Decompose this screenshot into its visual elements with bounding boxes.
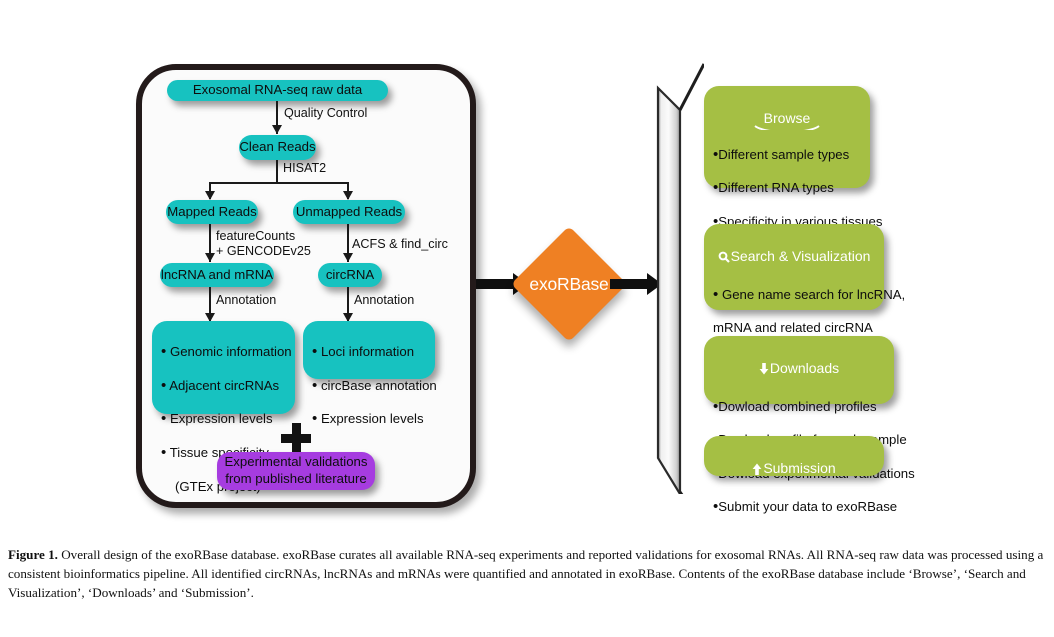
hub-label: exoRBase xyxy=(511,274,627,295)
panel-browse[interactable]: Browse •Different sample types •Differen… xyxy=(704,86,870,188)
node-mapped-reads: Mapped Reads xyxy=(166,200,258,224)
list-item-continuation: mRNA and related circRNA xyxy=(713,320,875,337)
edge-hisat2-left-arrowhead xyxy=(205,191,215,200)
edge-label-annotation-right: Annotation xyxy=(354,293,414,308)
bullet-icon: • xyxy=(161,410,166,427)
list-item-label: Different RNA types xyxy=(718,180,834,195)
panel-search-header: Search & Visualization xyxy=(713,248,875,268)
caption-text: Overall design of the exoRBase database.… xyxy=(8,547,1043,600)
plus-symbol xyxy=(281,423,311,453)
caption-label: Figure 1. xyxy=(8,547,58,562)
list-item: • Adjacent circRNAs xyxy=(161,378,286,395)
bullet-icon: • xyxy=(161,343,166,360)
edge-hisat2-right-arrowhead xyxy=(343,191,353,200)
magnifier-icon xyxy=(718,250,730,268)
list-item-label: Expression levels xyxy=(321,411,424,426)
arrow-up-icon xyxy=(752,462,762,480)
list-item-label: mRNA and related circRNA xyxy=(713,320,873,335)
list-item: • circBase annotation xyxy=(312,378,426,395)
list-item[interactable]: • Gene name search for lncRNA, xyxy=(713,287,875,304)
edge-label-quality-control: Quality Control xyxy=(284,106,367,121)
bullet-icon: • xyxy=(312,410,317,427)
node-unmapped-reads: Unmapped Reads xyxy=(293,200,405,224)
list-item[interactable]: •Submit your data to exoRBase xyxy=(713,499,875,516)
bracket-3d xyxy=(652,58,704,494)
edge-acfs-arrowhead xyxy=(343,253,353,262)
list-item-label: Expression levels xyxy=(170,411,273,426)
node-circrna: circRNA xyxy=(318,263,382,287)
node-lncrna-mrna: lncRNA and mRNA xyxy=(160,263,274,287)
list-item: • Expression levels xyxy=(312,411,426,428)
panel-downloads[interactable]: Downloads •Dowload combined profiles •Do… xyxy=(704,336,894,404)
bracket-svg xyxy=(652,58,704,494)
panel-search-visualization[interactable]: Search & Visualization • Gene name searc… xyxy=(704,224,884,310)
bullet-icon: • xyxy=(312,343,317,360)
figure-canvas: Exosomal RNA-seq raw data Quality Contro… xyxy=(0,0,1054,637)
panel-downloads-header: Downloads xyxy=(713,360,885,380)
list-item-label: Gene name search for lncRNA, xyxy=(722,287,905,302)
list-item[interactable]: •Different sample types xyxy=(713,147,861,164)
edge-label-annotation-left: Annotation xyxy=(216,293,276,308)
list-item-label: Loci information xyxy=(321,344,414,359)
list-item-label: circBase annotation xyxy=(321,378,437,393)
arrow-down-icon xyxy=(759,362,769,380)
edge-featurecounts-arrowhead xyxy=(205,253,215,262)
figure-caption: Figure 1. Overall design of the exoRBase… xyxy=(8,546,1048,603)
node-raw-data: Exosomal RNA-seq raw data xyxy=(167,80,388,101)
list-item[interactable]: •Different RNA types xyxy=(713,180,861,197)
box-circrna-outputs: • Loci information • circBase annotation… xyxy=(303,321,435,379)
panel-submission-title: Submission xyxy=(763,460,835,476)
list-item-label: Dowload combined profiles xyxy=(718,399,876,414)
panel-downloads-title: Downloads xyxy=(770,360,839,376)
node-clean-reads: Clean Reads xyxy=(239,135,316,160)
bullet-icon: • xyxy=(161,444,166,461)
panel-search-title: Search & Visualization xyxy=(731,248,871,264)
panel-submission-header: Submission xyxy=(713,460,875,480)
edge-label-hisat2: HISAT2 xyxy=(283,161,326,176)
list-item[interactable]: •Dowload combined profiles xyxy=(713,399,885,416)
edge-qc-arrowhead xyxy=(272,125,282,134)
box-mrna-outputs: • Genomic information • Adjacent circRNA… xyxy=(152,321,295,414)
list-item-label: Genomic information xyxy=(170,344,292,359)
list-item: • Expression levels xyxy=(161,411,286,428)
edge-label-featurecounts: featureCounts + GENCODEv25 xyxy=(216,229,311,260)
edge-hisat2-stem xyxy=(276,160,278,184)
list-item: • Genomic information xyxy=(161,344,286,361)
list-item: • Loci information xyxy=(312,344,426,361)
bullet-icon: • xyxy=(312,377,317,394)
node-experimental-validations: Experimental validations from published … xyxy=(217,452,375,490)
edge-label-acfs: ACFS & find_circ xyxy=(352,237,448,252)
panel-submission[interactable]: Submission •Submit your data to exoRBase xyxy=(704,436,884,476)
list-item-label: Different sample types xyxy=(718,147,849,162)
browse-swoosh-icon xyxy=(751,121,823,130)
edge-hisat2-cross xyxy=(209,182,349,184)
bullet-icon: • xyxy=(713,286,718,303)
list-item-label: Submit your data to exoRBase xyxy=(718,499,897,514)
panel-browse-header: Browse xyxy=(713,110,861,128)
bullet-icon: • xyxy=(161,377,166,394)
list-item-label: Adjacent circRNAs xyxy=(169,378,279,393)
